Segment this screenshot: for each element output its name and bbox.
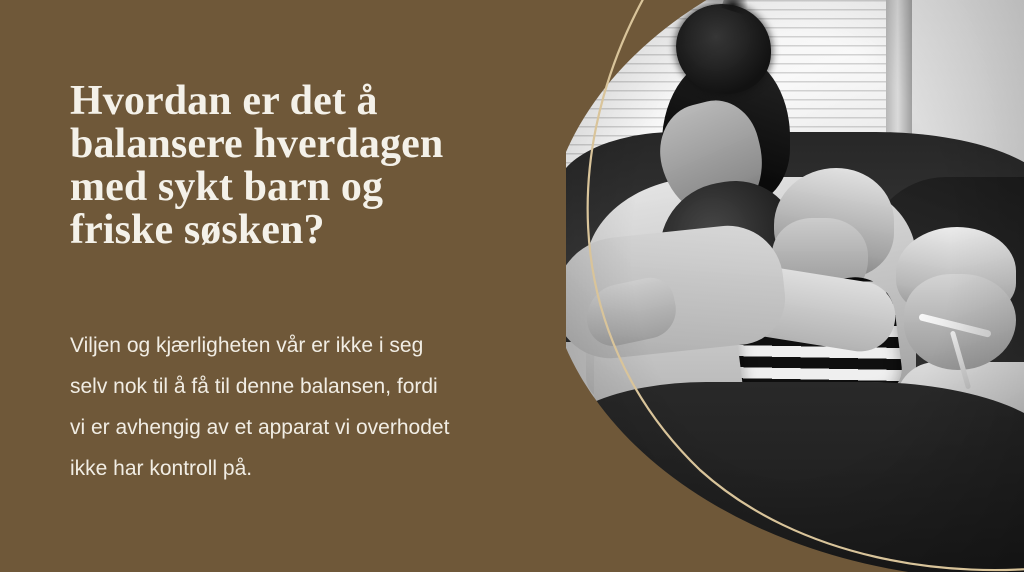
page-title: Hvordan er det å balansere hverdagen med… [70, 80, 540, 252]
body-line-3: vi er avhengig av et apparat vi overhode… [70, 407, 560, 448]
photo-vignette [566, 0, 1024, 572]
body-paragraph: Viljen og kjærligheten vår er ikke i seg… [70, 325, 560, 489]
body-line-1: Viljen og kjærligheten vår er ikke i seg [70, 325, 560, 366]
page-title-line-3: med sykt barn og [70, 166, 540, 209]
body-line-2: selv nok til å få til denne balansen, fo… [70, 366, 560, 407]
body-line-4: ikke har kontroll på. [70, 448, 560, 489]
page-title-line-1: Hvordan er det å [70, 80, 540, 123]
slide: Hvordan er det å balansere hverdagen med… [0, 0, 1024, 572]
page-title-line-2: balansere hverdagen [70, 123, 540, 166]
family-photo [566, 0, 1024, 572]
page-title-line-4: friske søsken? [70, 209, 540, 252]
